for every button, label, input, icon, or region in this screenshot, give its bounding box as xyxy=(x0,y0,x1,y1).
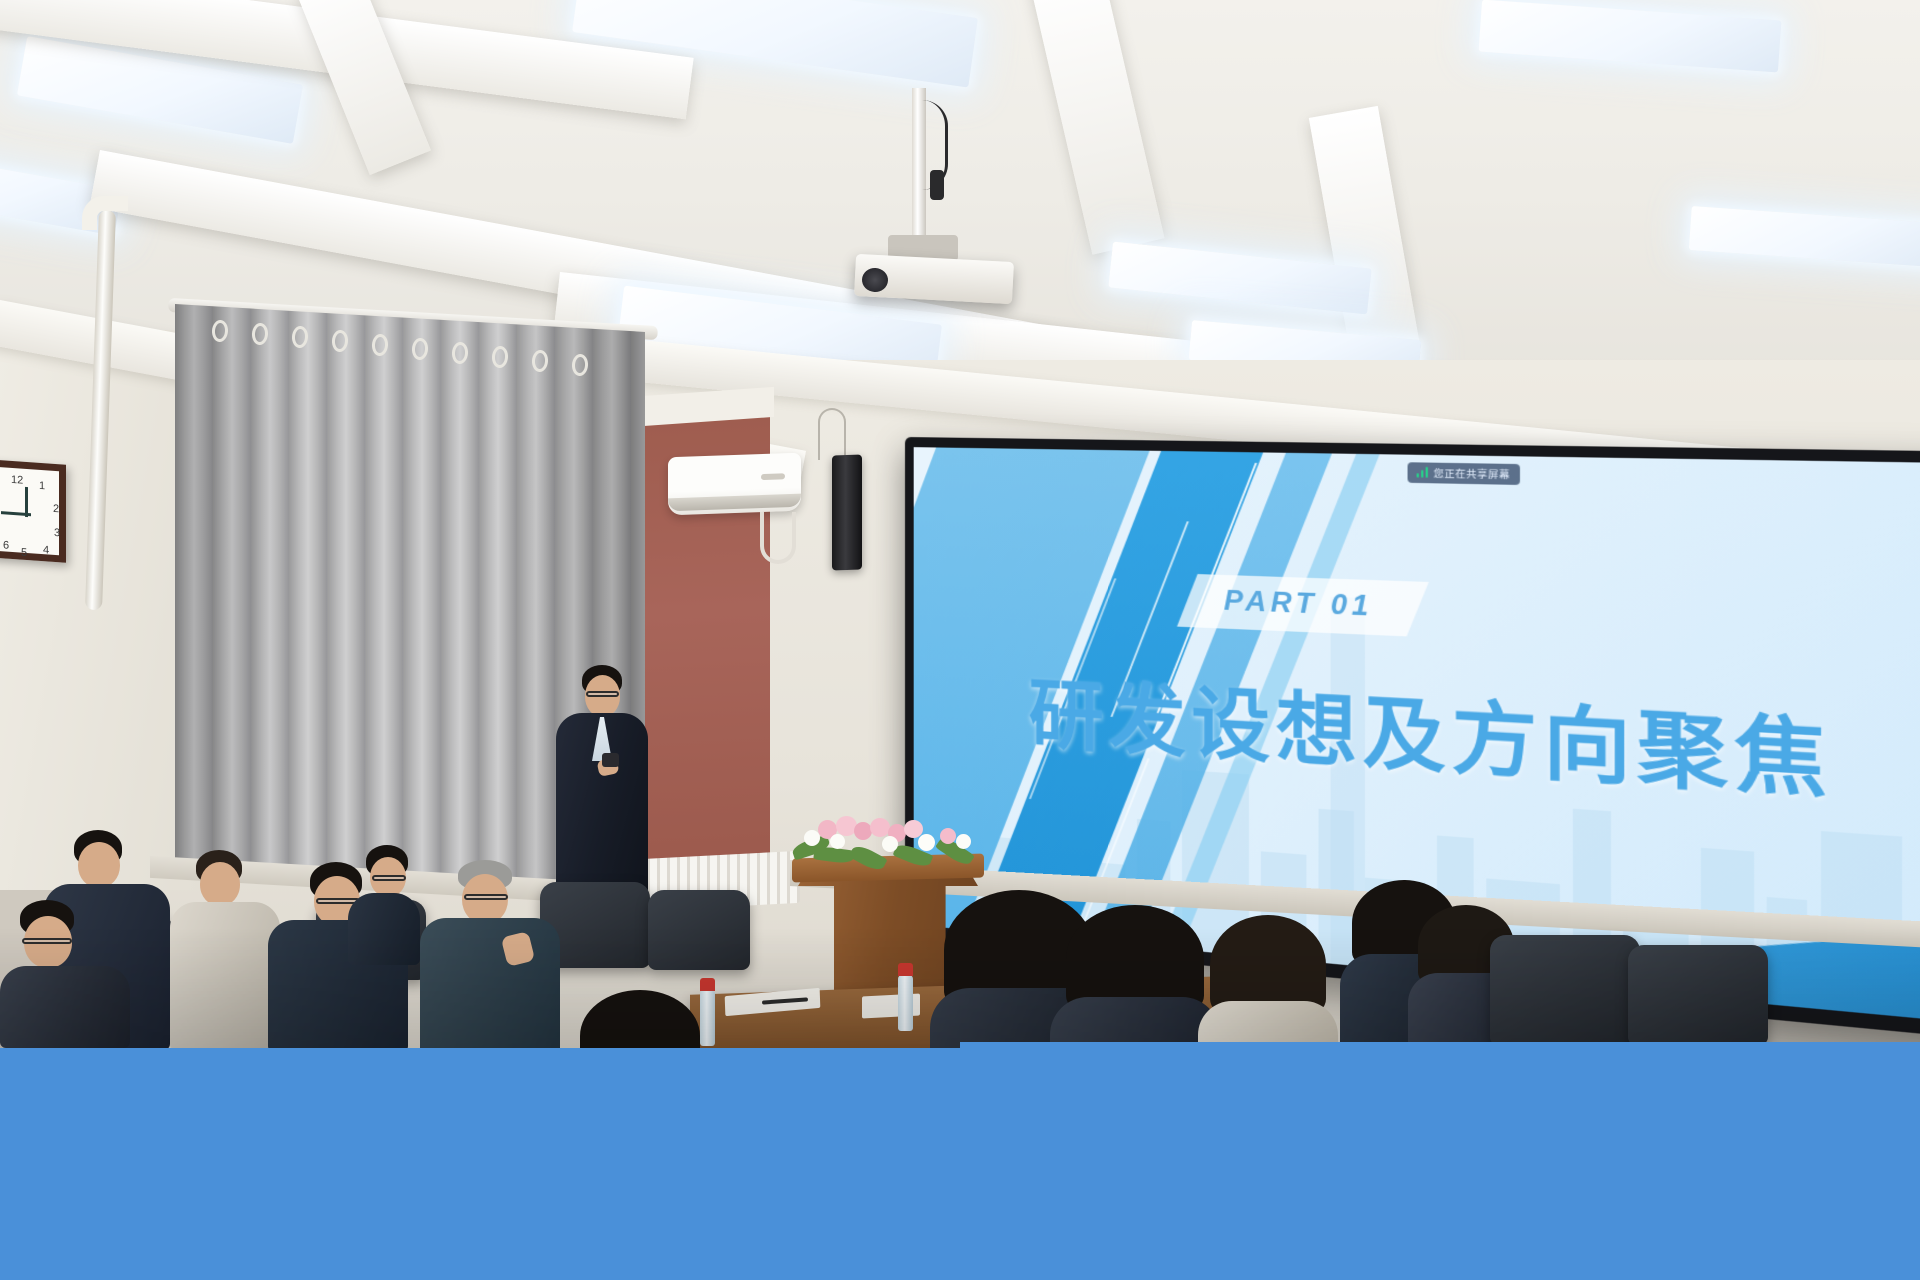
conference-room-photo: 12 1 2 3 4 5 6 xyxy=(0,0,1920,1048)
wall-speaker xyxy=(832,454,862,570)
footer-color-band xyxy=(0,1030,1920,1280)
clock-numeral: 1 xyxy=(39,480,45,492)
screen-share-notice[interactable]: 您正在共享屏幕 xyxy=(1407,462,1519,485)
footer-band-left xyxy=(0,1054,960,1280)
ac-display-panel xyxy=(761,473,785,480)
eyeglasses-icon xyxy=(372,875,406,881)
presentation-clicker[interactable] xyxy=(602,753,619,767)
ac-drain-hose xyxy=(760,512,796,564)
ceiling-light-panel xyxy=(1479,0,1782,72)
clock-numeral: 2 xyxy=(53,503,59,515)
eyeglasses-icon xyxy=(586,691,619,697)
wall-clock: 12 1 2 3 4 5 6 xyxy=(0,459,66,562)
clock-numeral: 5 xyxy=(21,547,27,559)
wall-pipe-elbow xyxy=(82,196,128,230)
office-chair[interactable] xyxy=(1490,935,1640,1045)
attendee xyxy=(420,860,560,1048)
ceiling-light-panel xyxy=(1689,206,1920,268)
ac-vent xyxy=(668,494,801,512)
attendee-foreground xyxy=(1050,905,1220,1048)
signal-bars-icon xyxy=(1416,467,1428,478)
bottle-cap xyxy=(898,963,913,976)
water-bottle xyxy=(898,975,913,1031)
attendee xyxy=(348,845,420,965)
clock-numeral: 12 xyxy=(11,474,23,487)
speaker-cable xyxy=(818,408,846,460)
attendee xyxy=(0,900,130,1048)
ceiling-beam xyxy=(1309,106,1421,364)
eyeglasses-icon xyxy=(464,894,508,900)
screen-share-label: 您正在共享屏幕 xyxy=(1434,466,1510,482)
screenshot-root: 12 1 2 3 4 5 6 xyxy=(0,0,1920,1280)
clock-numeral: 4 xyxy=(43,544,49,556)
office-chair[interactable] xyxy=(648,890,750,970)
flower-arrangement xyxy=(790,814,986,870)
slide-part-label: PART 01 xyxy=(1223,584,1372,623)
clock-numeral: 3 xyxy=(54,527,60,539)
footer-band-right xyxy=(960,1042,1920,1280)
attendee-foreground xyxy=(1198,915,1338,1048)
attendee xyxy=(170,850,280,1048)
air-conditioner xyxy=(668,453,801,516)
projector-cable-clip xyxy=(930,170,944,200)
slide-part-badge: PART 01 xyxy=(1177,574,1428,636)
ceiling-beam xyxy=(1029,0,1164,255)
eyeglasses-icon xyxy=(22,938,72,944)
clock-numeral: 6 xyxy=(3,539,9,551)
